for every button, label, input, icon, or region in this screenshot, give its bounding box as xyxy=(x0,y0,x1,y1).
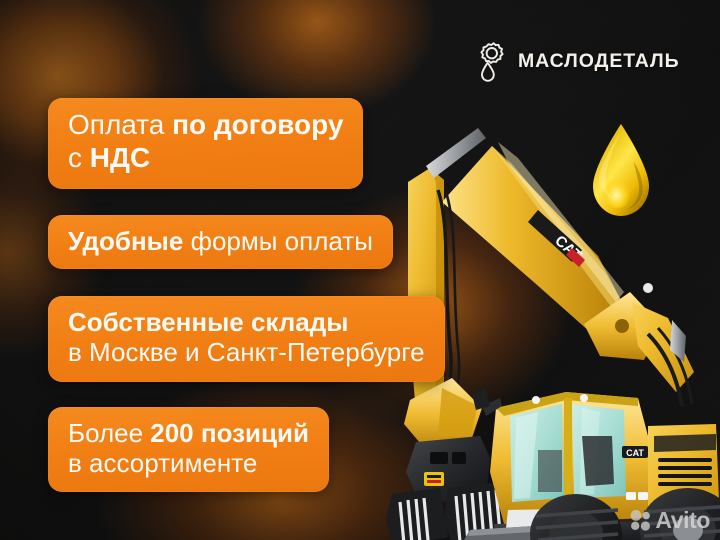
badge-payment-contract-vat: Оплата по договору с НДС xyxy=(48,98,363,189)
oil-drop-icon xyxy=(587,122,655,218)
badge-line: Более 200 позиций xyxy=(68,418,309,448)
brand-logo: МАСЛОДЕТАЛЬ xyxy=(468,40,680,84)
avito-watermark: Avito xyxy=(630,509,710,532)
feature-badge-list: Оплата по договору с НДС Удобные формы о… xyxy=(48,98,445,492)
badge-text-light: формы оплаты xyxy=(183,226,373,256)
badge-line: в Москве и Санкт-Петербурге xyxy=(68,337,425,367)
badge-text-bold: 200 позиций xyxy=(150,418,309,448)
badge-own-warehouses: Собственные склады в Москве и Санкт-Пете… xyxy=(48,296,445,382)
promo-banner: CAT xyxy=(0,0,720,540)
grapple-claw-left xyxy=(386,488,448,540)
brand-name: МАСЛОДЕТАЛЬ xyxy=(518,52,680,72)
avito-dots-icon xyxy=(630,510,651,531)
badge-text-light: с xyxy=(68,142,90,173)
badge-line: Собственные склады xyxy=(68,307,425,337)
badge-line: в ассортименте xyxy=(68,448,309,478)
badge-convenient-payment-forms: Удобные формы оплаты xyxy=(48,215,393,269)
badge-line: Оплата по договору xyxy=(68,109,343,142)
badge-text-bold: Удобные xyxy=(68,226,183,256)
badge-line: Удобные формы оплаты xyxy=(68,226,373,256)
badge-text-bold: НДС xyxy=(90,142,150,173)
badge-text-light: Более xyxy=(68,418,150,448)
gear-with-oil-drop-icon xyxy=(468,40,508,84)
badge-text-bold: по договору xyxy=(172,109,343,140)
cat-side-decal: CAT xyxy=(622,446,648,458)
svg-text:CAT: CAT xyxy=(626,448,644,458)
avito-label: Avito xyxy=(655,509,710,532)
badge-text-light: Оплата xyxy=(68,109,172,140)
badge-line: с НДС xyxy=(68,142,343,175)
badge-assortment-200-positions: Более 200 позиций в ассортименте xyxy=(48,407,329,492)
badge-text-bold: Собственные склады xyxy=(68,307,348,337)
